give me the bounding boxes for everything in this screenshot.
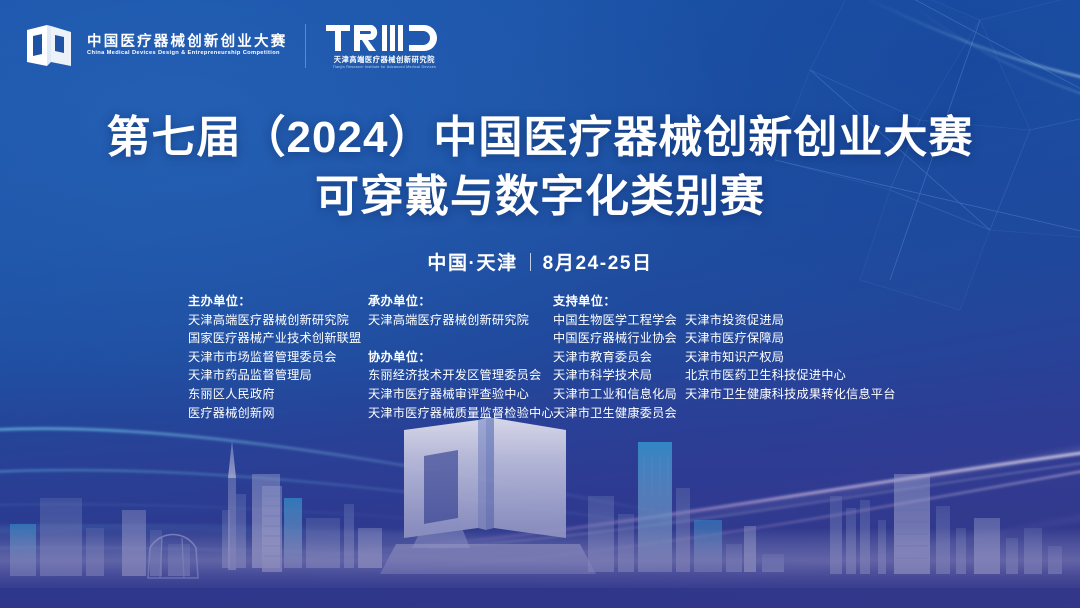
competition-logo-cn: 中国医疗器械创新创业大赛	[87, 35, 287, 50]
organizer-item: 天津高端医疗器械创新研究院	[188, 311, 368, 330]
organizer-item: 医疗器械创新网	[188, 404, 368, 423]
header-logos: 中国医疗器械创新创业大赛 China Medical Devices Desig…	[24, 22, 444, 70]
organizer-item: 天津市卫生健康科技成果转化信息平台	[685, 385, 896, 404]
organizer-item: 天津市科学技术局	[553, 366, 685, 385]
competition-logo: 中国医疗器械创新创业大赛 China Medical Devices Desig…	[24, 22, 287, 70]
institute-logo-en: Tianjin Research Institute for Advanced …	[333, 66, 436, 70]
trimd-wordmark-icon	[324, 23, 444, 53]
organizer-block: 主办单位： 天津高端医疗器械创新研究院 国家医疗器械产业技术创新联盟 天津市市场…	[188, 292, 896, 422]
organizer-column-supporter-a: 支持单位： 中国生物医学工程学会 中国医疗器械行业协会 天津市教育委员会 天津市…	[553, 292, 685, 422]
open-book-icon	[24, 22, 78, 70]
organizer-item: 天津市医疗器械质量监督检验中心	[368, 404, 553, 423]
organizer-item: 天津市医疗器械审评查验中心	[368, 385, 553, 404]
organizer-item: 北京市医药卫生科技促进中心	[685, 366, 896, 385]
subtitle-separator	[530, 253, 531, 271]
organizer-item: 天津高端医疗器械创新研究院	[368, 311, 553, 330]
institute-logo-cn: 天津高端医疗器械创新研究院	[334, 56, 435, 63]
organizer-item: 天津市投资促进局	[685, 311, 896, 330]
institute-logo: 天津高端医疗器械创新研究院 Tianjin Research Institute…	[324, 23, 444, 70]
poster-canvas: 中国医疗器械创新创业大赛 China Medical Devices Desig…	[0, 0, 1080, 608]
organizer-item: 天津市药品监督管理局	[188, 366, 368, 385]
competition-logo-en: China Medical Devices Design & Entrepren…	[87, 51, 291, 57]
group-title: 协办单位：	[368, 348, 553, 367]
organizer-column-undertaker: 承办单位： 天津高端医疗器械创新研究院 协办单位： 东丽经济技术开发区管理委员会…	[368, 292, 553, 422]
organizer-item: 东丽区人民政府	[188, 385, 368, 404]
event-subtitle: 中国·天津 8月24-25日	[0, 248, 1080, 275]
organizer-item: 中国生物医学工程学会	[553, 311, 685, 330]
organizer-item: 中国医疗器械行业协会	[553, 329, 685, 348]
organizer-item: 国家医疗器械产业技术创新联盟	[188, 329, 368, 348]
logo-divider	[305, 24, 306, 68]
event-dates: 8月24-25日	[543, 248, 653, 275]
organizer-item: 天津市医疗保障局	[685, 329, 896, 348]
main-title-line1: 第七届（2024）中国医疗器械创新创业大赛	[0, 112, 1080, 163]
group-title: 承办单位：	[368, 292, 553, 311]
event-location: 中国·天津	[427, 248, 517, 275]
organizer-column-host: 主办单位： 天津高端医疗器械创新研究院 国家医疗器械产业技术创新联盟 天津市市场…	[188, 292, 368, 422]
organizer-item: 天津市卫生健康委员会	[553, 404, 685, 423]
organizer-column-supporter-b: 天津市投资促进局 天津市医疗保障局 天津市知识产权局 北京市医药卫生科技促进中心…	[685, 292, 896, 404]
group-title: 支持单位：	[553, 292, 685, 311]
organizer-item: 天津市工业和信息化局	[553, 385, 685, 404]
main-title-line2: 可穿戴与数字化类别赛	[0, 171, 1080, 222]
organizer-item: 天津市市场监督管理委员会	[188, 348, 368, 367]
organizer-item: 天津市知识产权局	[685, 348, 896, 367]
group-title: 主办单位：	[188, 292, 368, 311]
spacer	[368, 329, 553, 348]
organizer-item: 东丽经济技术开发区管理委员会	[368, 366, 553, 385]
organizer-item: 天津市教育委员会	[553, 348, 685, 367]
title-block: 第七届（2024）中国医疗器械创新创业大赛 可穿戴与数字化类别赛 中国·天津 8…	[0, 112, 1080, 275]
